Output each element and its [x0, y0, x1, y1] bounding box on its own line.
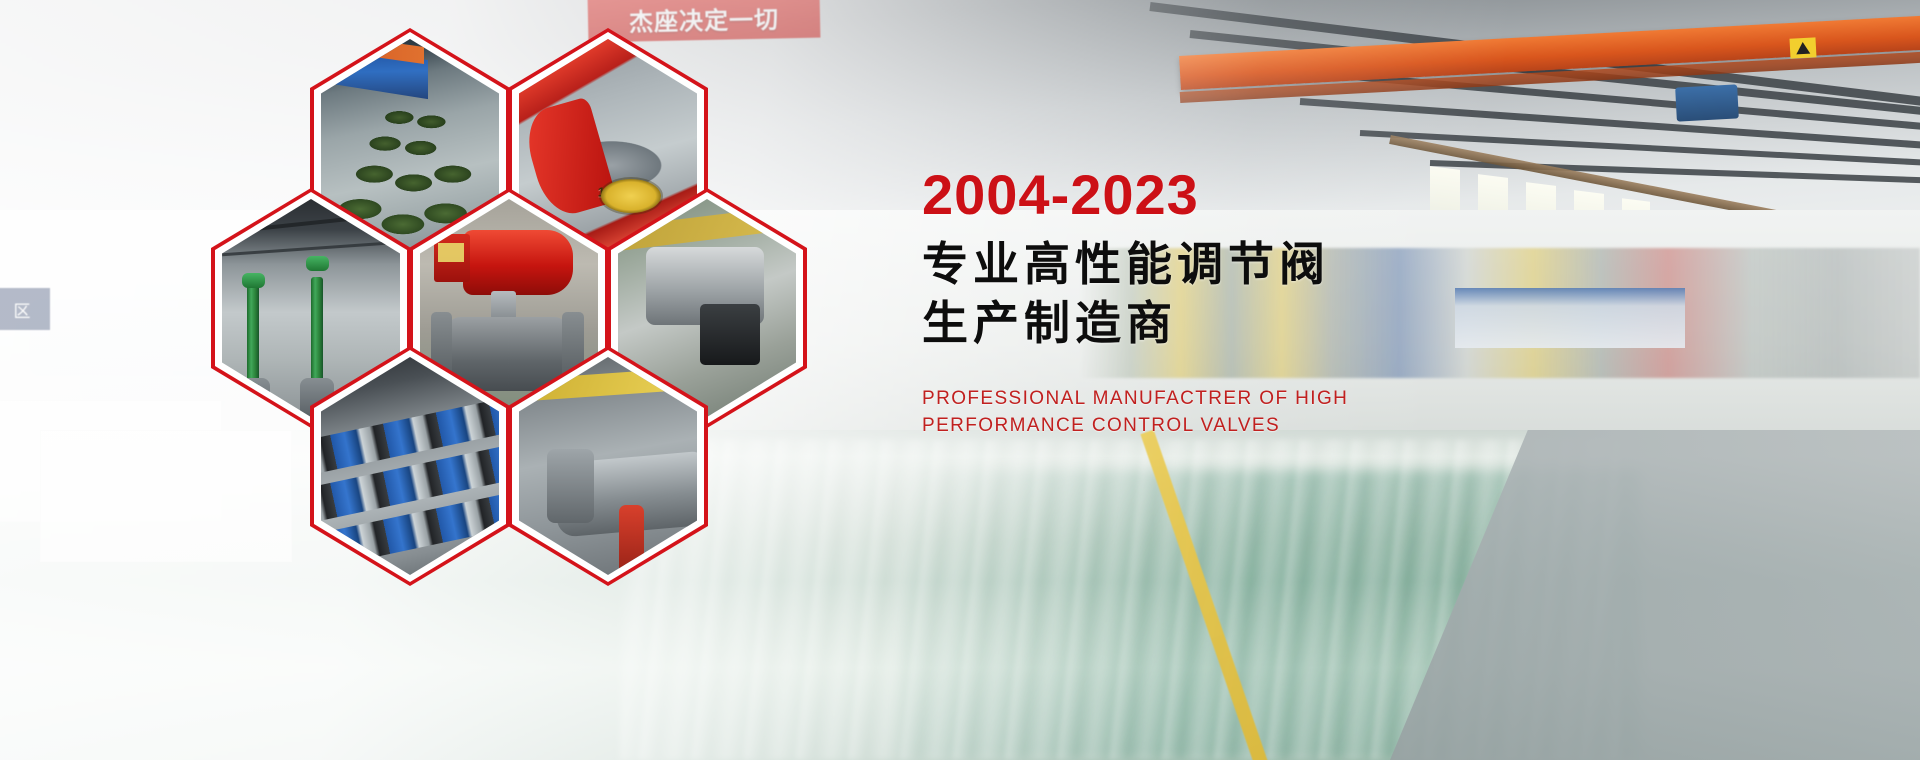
roof-truss [222, 241, 400, 256]
hexagon-photo-cluster: 10" [0, 0, 960, 760]
red-actuator-cylinder [463, 230, 573, 295]
green-valve-cap [306, 256, 329, 271]
solenoid-block [700, 304, 761, 365]
years-heading: 2004-2023 [922, 166, 1562, 223]
banner-text-block: 2004-2023 专业高性能调节阀 生产制造商 PROFESSIONAL MA… [922, 166, 1562, 440]
chinese-headline-line-1: 专业高性能调节阀 [922, 235, 1562, 294]
valve-size-tag: 10" [598, 184, 619, 199]
english-subtitle: PROFESSIONAL MANUFACTRER OF HIGH PERFORM… [922, 385, 1562, 440]
valve-hub [547, 449, 593, 523]
actuator-label [438, 243, 465, 263]
chinese-headline-line-2: 生产制造商 [922, 294, 1562, 353]
promo-banner: 杰座决定一切 区 10" [0, 0, 1920, 760]
green-valve-cap [242, 273, 265, 288]
chinese-headline: 专业高性能调节阀 生产制造商 [922, 235, 1562, 353]
english-subtitle-line-2: PERFORMANCE CONTROL VALVES [922, 412, 1562, 440]
english-subtitle-line-1: PROFESSIONAL MANUFACTRER OF HIGH [922, 385, 1562, 413]
